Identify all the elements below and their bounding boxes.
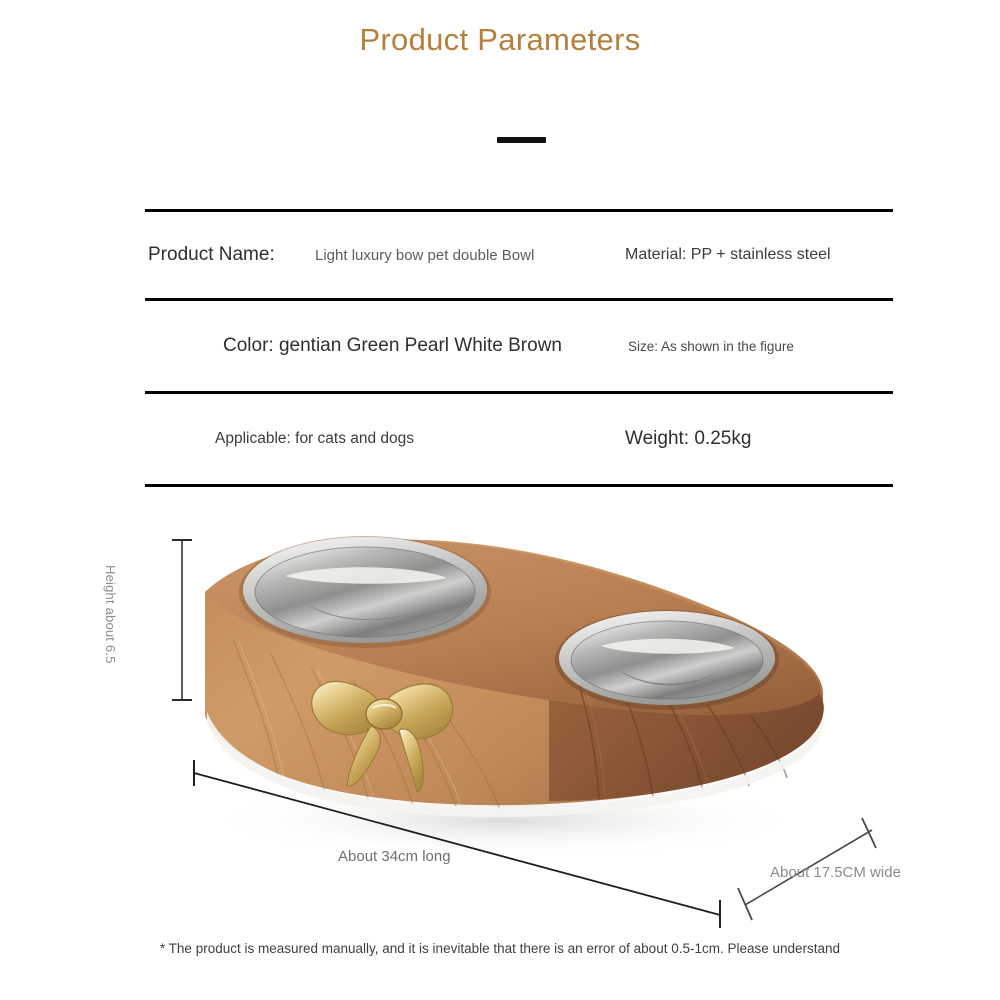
applicable-value: Applicable: for cats and dogs	[215, 430, 414, 448]
page-title: Product Parameters	[0, 22, 1000, 58]
height-dimension-cap-top	[172, 539, 192, 541]
width-cap-left	[738, 888, 752, 920]
stainless-bowl-right	[555, 610, 779, 710]
width-dimension-label: About 17.5CM wide	[770, 864, 901, 881]
table-row: Applicable: for cats and dogs Weight: 0.…	[145, 394, 893, 484]
length-dimension-label: About 34cm long	[338, 848, 451, 865]
table-row: Color: gentian Green Pearl White Brown S…	[145, 301, 893, 391]
height-dimension-label: Height about 6.5	[103, 565, 118, 685]
height-dimension-cap-bottom	[172, 699, 192, 701]
pet-double-bowl-illustration	[175, 520, 835, 880]
product-name-value: Light luxury bow pet double Bowl	[315, 247, 534, 264]
stainless-bowl-left	[239, 536, 491, 648]
product-image	[175, 520, 835, 880]
product-name-label: Product Name:	[148, 244, 275, 266]
measurement-disclaimer: * The product is measured manually, and …	[0, 941, 1000, 956]
bowl-left-interior	[255, 547, 475, 637]
spec-table: Product Name: Light luxury bow pet doubl…	[145, 209, 893, 487]
size-value: Size: As shown in the figure	[628, 339, 794, 354]
title-divider-dash	[497, 137, 546, 143]
table-row: Product Name: Light luxury bow pet doubl…	[145, 212, 893, 298]
weight-value: Weight: 0.25kg	[625, 428, 751, 450]
width-cap-right	[862, 818, 876, 848]
material-value: Material: PP + stainless steel	[625, 246, 831, 264]
color-value: Color: gentian Green Pearl White Brown	[223, 335, 562, 357]
height-dimension-line	[181, 540, 183, 700]
bow-center-knot	[366, 699, 402, 729]
bowl-right-interior	[571, 621, 763, 699]
table-rule-bottom	[145, 484, 893, 487]
